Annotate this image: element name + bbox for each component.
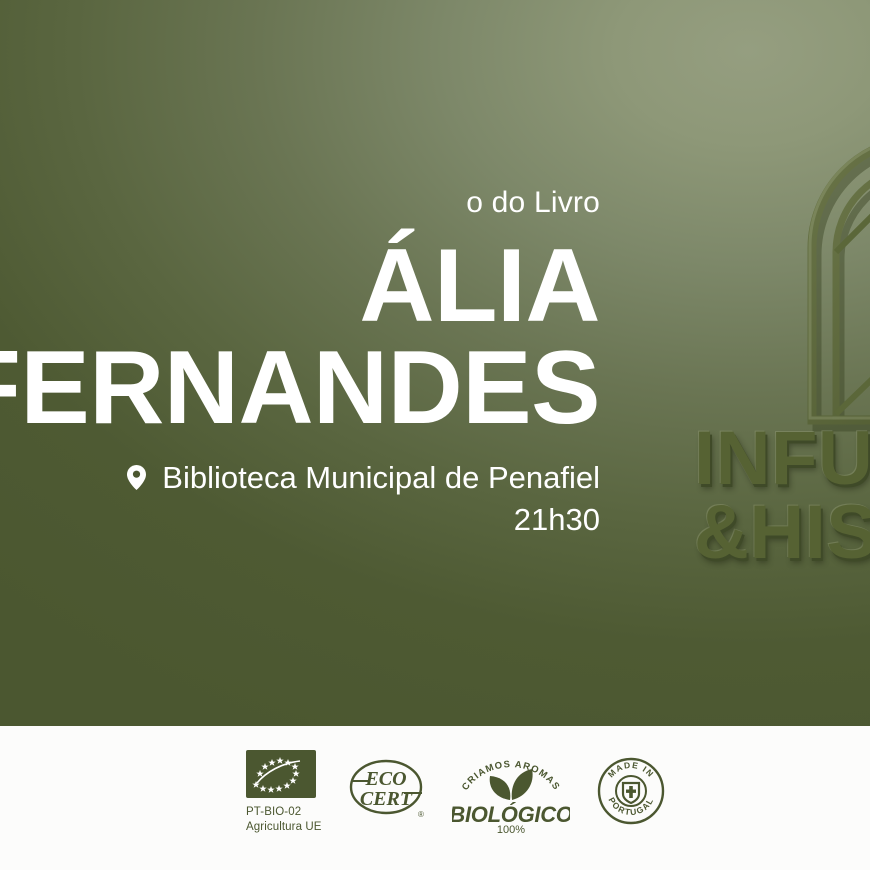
headline-line-1: ÁLIA <box>0 236 600 338</box>
cert-made-in-portugal: MADE IN PORTUGAL <box>596 756 666 826</box>
event-venue-label: Biblioteca Municipal de Penafiel <box>162 460 600 495</box>
eu-organic-caption: PT-BIO-02 Agricultura UE <box>246 805 322 834</box>
headline-line-2: FERNANDES <box>0 338 600 440</box>
eu-organic-leaf-icon <box>246 750 316 798</box>
event-venue: Biblioteca Municipal de Penafiel <box>0 460 600 496</box>
event-poster: INFU &HIST o do Livro ÁLIA FERNANDES Bib… <box>0 0 870 870</box>
biologico-arc-text: CRIAMOS AROMAS <box>459 759 561 793</box>
event-time: 21h30 <box>0 502 600 538</box>
ecocert-text-line2: CERT <box>359 788 412 810</box>
cert-eu-organic: PT-BIO-02 Agricultura UE <box>246 750 322 834</box>
hero-panel: INFU &HIST o do Livro ÁLIA FERNANDES Bib… <box>0 0 870 726</box>
svg-text:CRIAMOS AROMAS: CRIAMOS AROMAS <box>459 759 561 793</box>
certification-strip: PT-BIO-02 Agricultura UE ECO CERT ® <box>0 726 870 870</box>
two-leaves-icon <box>489 769 532 800</box>
event-kicker: o do Livro <box>0 186 600 220</box>
biologico-icon-group: CRIAMOS AROMAS BIOLÓGICO 100% <box>452 748 570 834</box>
eu-organic-caption-line1: PT-BIO-02 <box>246 805 322 820</box>
location-pin-icon <box>127 465 146 490</box>
event-headline: ÁLIA FERNANDES <box>0 236 600 440</box>
cert-ecocert: ECO CERT ® <box>348 757 426 819</box>
ecocert-text-line1: ECO <box>364 768 406 790</box>
ecocert-oval-icon: ECO CERT ® <box>348 757 426 819</box>
certification-row: PT-BIO-02 Agricultura UE ECO CERT ® <box>246 750 666 834</box>
portugal-shield-icon: MADE IN PORTUGAL <box>596 756 666 826</box>
eu-organic-caption-line2: Agricultura UE <box>246 820 322 835</box>
biologico-subtitle: 100% <box>496 824 524 834</box>
ecocert-registered-mark: ® <box>418 810 424 819</box>
cert-biologico: CRIAMOS AROMAS BIOLÓGICO 100% <box>452 748 570 834</box>
event-copy: o do Livro ÁLIA FERNANDES Biblioteca Mun… <box>0 0 600 726</box>
